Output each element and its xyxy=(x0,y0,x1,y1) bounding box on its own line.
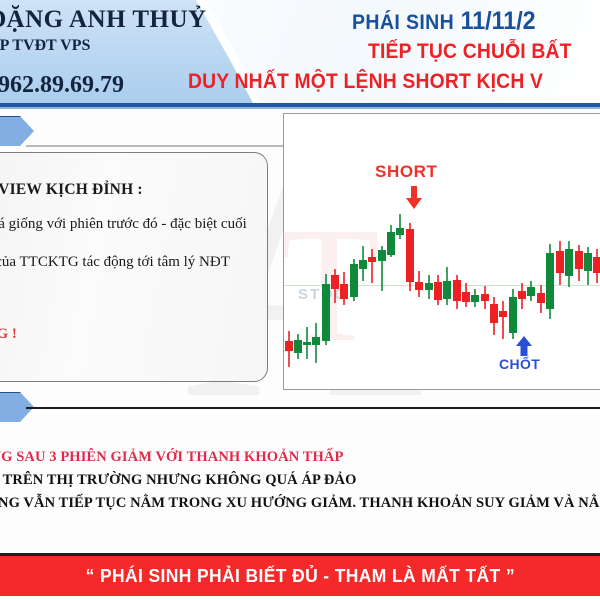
section-divider-bottom xyxy=(26,407,600,409)
chot-arrow-up-icon xyxy=(515,336,533,361)
short-arrow-down-icon xyxy=(404,186,424,215)
summary-line-1: ÀNG SAU 3 PHIÊN GIẢM VỚI THANH KHOẢN THẤ… xyxy=(0,449,343,466)
poster-canvas: A T ĐẶNG ANH THUỶ TP TVĐT VPS 0962.89.69… xyxy=(0,0,600,600)
header-date: 11/11/2 xyxy=(461,7,536,35)
summary-line-2: HẾ TRÊN THỊ TRƯỜNG NHƯNG KHÔNG QUÁ ÁP ĐẢ… xyxy=(0,472,356,489)
header-title-line2: TIẾP TỤC CHUỖI BẤT xyxy=(368,40,572,64)
analyst-role: TP TVĐT VPS xyxy=(0,37,289,55)
analyst-name: ĐẶNG ANH THUỶ xyxy=(0,6,288,34)
header-rule-secondary xyxy=(0,107,600,109)
chart-plot-area: T STOC xyxy=(284,114,600,389)
commentary-line-3: ỜNG ! xyxy=(0,326,17,343)
footer-banner: “ PHÁI SINH PHẢI BIẾT ĐỦ - THAM LÀ MẤT T… xyxy=(0,556,600,596)
short-entry-label: SHORT xyxy=(375,162,438,182)
candlestick-chart-panel: T STOC xyxy=(283,113,600,390)
footer-slogan: “ PHÁI SINH PHẢI BIẾT ĐỦ - THAM LÀ MẤT T… xyxy=(85,566,514,587)
commentary-line-2: cực của TTCKTG tác động tới tâm lý NĐT xyxy=(0,254,230,271)
header-title-text: PHÁI SINH xyxy=(352,11,454,34)
header-title-line3: DUY NHẤT MỘT LỆNH SHORT KỊCH V xyxy=(188,70,543,94)
candlestick-series xyxy=(284,114,600,389)
section-marker-chevron-top xyxy=(0,116,36,148)
header-title-main: PHÁI SINH11/11/2 xyxy=(352,7,536,36)
commentary-line-1: g khá giống với phiên trước đó - đặc biệ… xyxy=(0,216,247,233)
summary-line-3: HƯNG VẪN TIẾP TỤC NẰM TRONG XU HƯỚNG GIẢ… xyxy=(0,495,599,512)
commentary-heading: N VIEW KỊCH ĐỈNH : xyxy=(0,181,143,199)
